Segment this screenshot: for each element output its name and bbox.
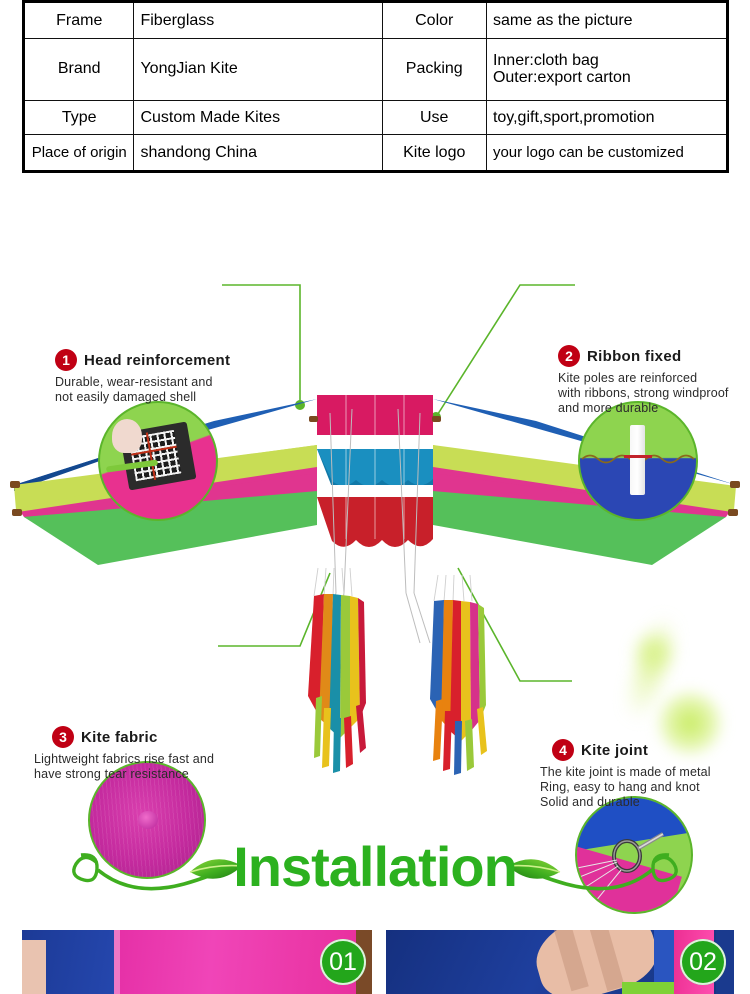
product-detail-page: Frame Fiberglass Color same as the pictu… xyxy=(0,0,750,994)
callout-3: 3 Kite fabric Lightweight fabrics rise f… xyxy=(52,726,362,782)
step-badge-01: 01 xyxy=(320,939,366,985)
callout-number-badge: 3 xyxy=(52,726,74,748)
feature-highlight-section: 1 Head reinforcement Durable, wear-resis… xyxy=(0,173,750,818)
installation-banner: Installation xyxy=(0,818,750,926)
spec-key: Packing xyxy=(382,38,486,100)
spec-value: your logo can be customized xyxy=(486,135,727,172)
callout-2: 2 Ribbon fixed Kite poles are reinforced… xyxy=(558,345,750,415)
spec-key: Use xyxy=(382,100,486,135)
white-ribbon xyxy=(630,425,645,495)
spec-key: Color xyxy=(382,2,486,39)
table-row: Brand YongJian Kite Packing Inner:cloth … xyxy=(24,38,728,100)
table-row: Type Custom Made Kites Use toy,gift,spor… xyxy=(24,100,728,135)
spec-key: Place of origin xyxy=(24,135,134,172)
callout-description: The kite joint is made of metal Ring, ea… xyxy=(540,765,750,809)
callout-number-badge: 4 xyxy=(552,739,574,761)
callout-title: Kite joint xyxy=(581,742,648,759)
callout-number-badge: 1 xyxy=(55,349,77,371)
fabric-seam xyxy=(114,930,120,994)
callout-description: Durable, wear-resistant and not easily d… xyxy=(55,375,355,405)
spec-value: same as the picture xyxy=(486,2,727,39)
callout-title: Ribbon fixed xyxy=(587,348,681,365)
finger xyxy=(112,419,142,453)
table-row: Frame Fiberglass Color same as the pictu… xyxy=(24,2,728,39)
spec-key: Type xyxy=(24,100,134,135)
spec-key: Kite logo xyxy=(382,135,486,172)
spec-value: Custom Made Kites xyxy=(134,100,382,135)
callout-number-badge: 2 xyxy=(558,345,580,367)
stitch-line xyxy=(624,455,652,458)
step-photo-02: 02 xyxy=(386,930,734,994)
specification-table: Frame Fiberglass Color same as the pictu… xyxy=(22,0,729,173)
installation-steps: 01 02 xyxy=(0,930,750,994)
spec-key: Frame xyxy=(24,2,134,39)
step-photo-01: 01 xyxy=(22,930,372,994)
spec-value: shandong China xyxy=(134,135,382,172)
callout-title: Kite fabric xyxy=(81,729,158,746)
spec-key: Brand xyxy=(24,38,134,100)
step-badge-02: 02 xyxy=(680,939,726,985)
callout-description: Kite poles are reinforced with ribbons, … xyxy=(558,371,750,415)
spec-value: YongJian Kite xyxy=(134,38,382,100)
table-row: Place of origin shandong China Kite logo… xyxy=(24,135,728,172)
callout-1: 1 Head reinforcement Durable, wear-resis… xyxy=(55,349,355,405)
callout-description: Lightweight fabrics rise fast and have s… xyxy=(34,752,362,782)
hand-edge xyxy=(22,940,46,994)
callout-title: Head reinforcement xyxy=(84,352,230,369)
detail-photo-head-reinforcement xyxy=(98,401,218,521)
spec-value: Fiberglass xyxy=(134,2,382,39)
spec-value: toy,gift,sport,promotion xyxy=(486,100,727,135)
installation-heading: Installation xyxy=(0,834,750,899)
spec-value: Inner:cloth bag Outer:export carton xyxy=(486,38,727,100)
green-trim xyxy=(622,982,674,994)
detail-photo-ribbon-fixed xyxy=(578,401,698,521)
callout-4: 4 Kite joint The kite joint is made of m… xyxy=(552,739,750,809)
